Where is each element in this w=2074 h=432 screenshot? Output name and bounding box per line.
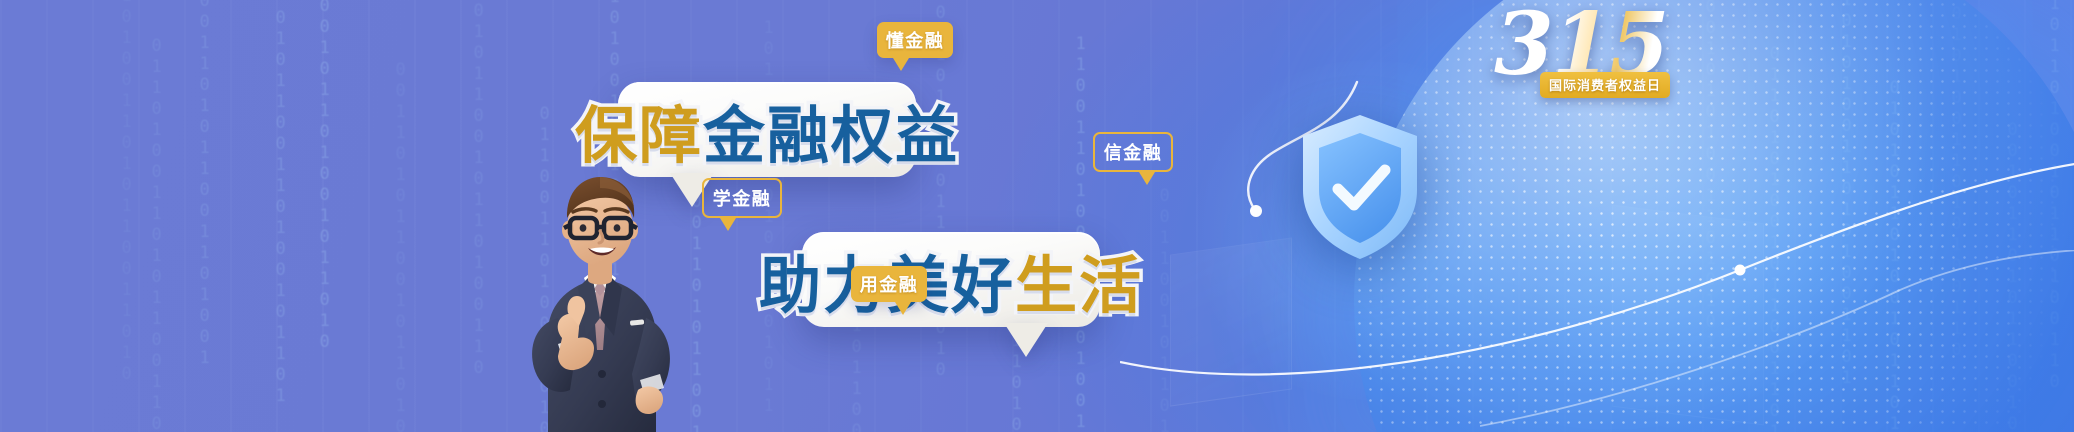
tag-dong-label: 懂金融 [886,27,945,53]
binary-stream: 0010110101100101011 [2004,120,2020,432]
logo-315: 315 国际消费者权益日 [1488,2,1688,112]
headline-primary-segment-blue: 金融权益 [703,85,959,175]
tag-tail [895,302,911,315]
binary-stream: 1010011010110011010 [118,0,134,385]
headline-secondary-segment-gold: 生活 [1015,235,1143,325]
binary-stream: 1001101011001101001 [196,0,212,369]
tag-xin-label: 信金融 [1104,139,1163,165]
binary-stream: 1010110010110100110 [470,0,486,379]
headline-secondary-text: 助力美好生活 [802,232,1100,327]
binary-stream: 0101011010010110101 [1886,78,1902,432]
ambient-glow-center [1180,60,1560,400]
dotted-globe-icon [1354,0,2074,432]
headline-bubble-secondary: 助力美好生活 [802,232,1100,327]
tag-yong-label: 用金融 [860,271,919,297]
orbit-arc-secondary-icon [1480,250,2074,432]
shield-check-icon [1296,112,1424,262]
tag-tail [1139,172,1155,185]
binary-stream: 0110100110101100110 [148,36,164,432]
tag-yong-jinrong: 用金融 [851,266,927,302]
headline-primary-segment-gold: 保障 [575,85,703,175]
tag-xin-jinrong: 信金融 [1093,132,1173,172]
bubble-tail-secondary [1004,323,1048,357]
binary-stream: 1001010100110101011 [1702,0,1718,375]
binary-stream: 1100101101001011010 [316,0,332,353]
binary-stream: 1010100110101001101 [1838,0,1854,389]
headline-primary-text: 保障金融权益 [618,82,916,177]
tag-xue-label: 学金融 [713,185,772,211]
logo-315-number: 315 [1488,2,1668,88]
orbit-arc-icon [1120,150,2074,410]
logo-315-ribbon: 国际消费者权益日 [1540,72,1670,98]
tech-panel-right [1612,205,1764,426]
binary-stream: 0101100110100101101 [272,8,288,407]
binary-stream: 1101001011010011001 [606,0,622,365]
binary-stream: 1101010011010100110 [1948,0,1964,361]
binary-stream: 0110101001011001101 [1766,44,1782,432]
binary-matrix-background: 1010011010110011010011010011010110011010… [0,0,2074,432]
businessman-thumbs-up-3d [500,168,700,432]
binary-stream: 1011010010110100110 [2046,0,2062,393]
binary-stream: 0011010110010110100 [392,60,408,432]
vertical-bars-overlay [0,0,2074,432]
tag-tail [720,218,736,231]
headline-bubble-primary: 保障金融权益 [618,82,916,177]
tag-dong-jinrong: 懂金融 [877,22,953,58]
binary-stream: 0011001011010110010 [1156,186,1172,432]
binary-stream: 0110011010011010110 [536,104,552,432]
tech-panel-left [1170,237,1292,406]
banner-315-financial-rights: 1010011010110011010011010011010110011010… [0,0,2074,432]
tag-tail [893,58,909,71]
hook-arc-icon [1215,78,1375,238]
ambient-glow-right [1494,20,2014,432]
tag-xue-jinrong: 学金融 [702,178,782,218]
